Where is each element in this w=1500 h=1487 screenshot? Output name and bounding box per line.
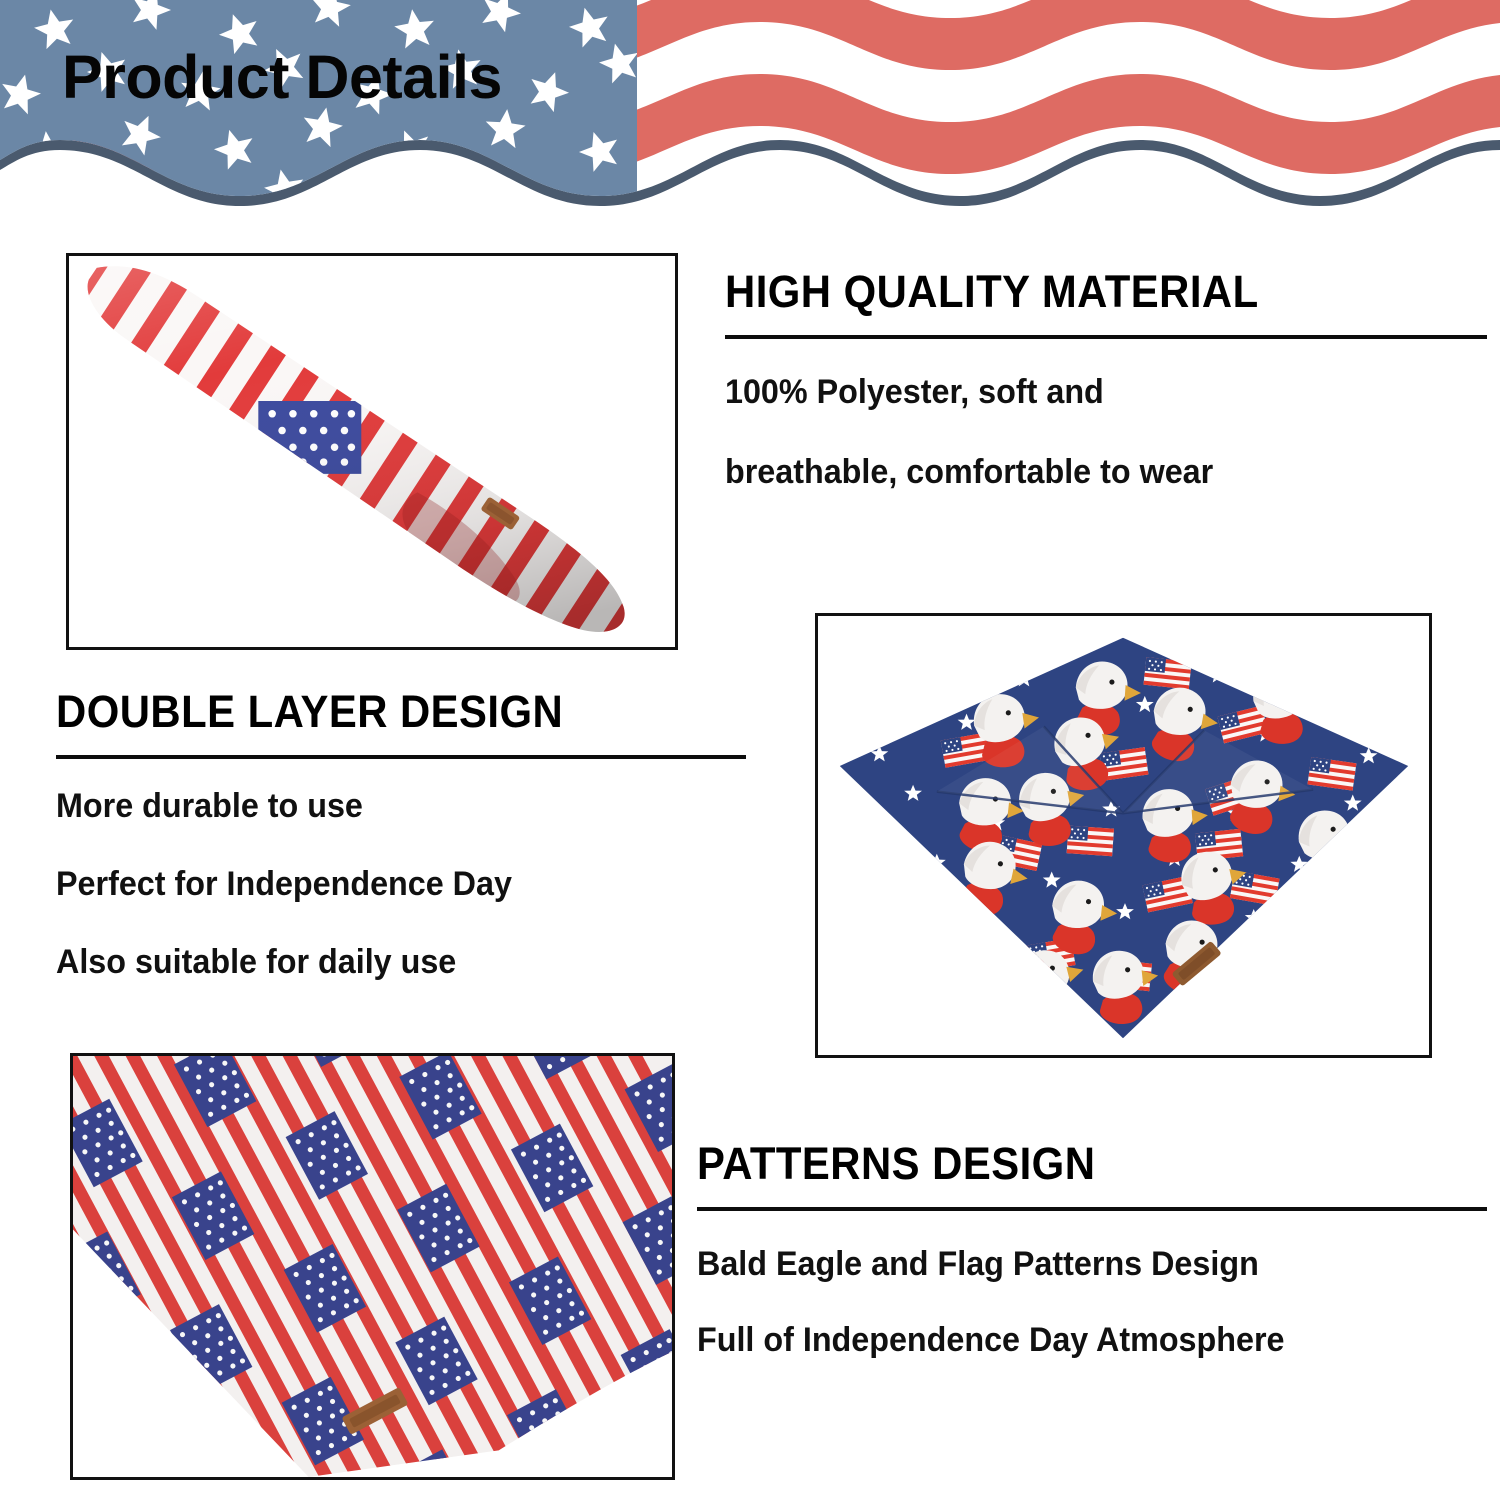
- feature-block-material: HIGH QUALITY MATERIAL 100% Polyester, so…: [725, 268, 1487, 535]
- feature-line: Bald Eagle and Flag Patterns Design: [697, 1247, 1448, 1281]
- feature-line: More durable to use: [56, 789, 712, 823]
- heading-divider: [56, 755, 746, 759]
- feature-line: Full of Independence Day Atmosphere: [697, 1323, 1448, 1357]
- feature-block-double-layer: DOUBLE LAYER DESIGN More durable to use …: [56, 688, 746, 1023]
- rolled-flag-bandana-photo: [66, 253, 678, 650]
- heading-divider: [725, 335, 1487, 339]
- feature-heading-patterns: PATTERNS DESIGN: [697, 1140, 1432, 1187]
- page-title: Product Details: [62, 47, 502, 108]
- flat-flag-bandana-image: [73, 1056, 672, 1477]
- feature-lines-double-layer: More durable to use Perfect for Independ…: [56, 789, 746, 979]
- feature-block-patterns: PATTERNS DESIGN Bald Eagle and Flag Patt…: [697, 1140, 1487, 1399]
- feature-lines-material: 100% Polyester, soft and breathable, com…: [725, 375, 1487, 489]
- heading-divider: [697, 1207, 1487, 1211]
- header-banner: Product Details: [0, 0, 1500, 215]
- eagle-bandana-image: [818, 616, 1429, 1055]
- feature-heading-material: HIGH QUALITY MATERIAL: [725, 268, 1434, 315]
- feature-line: breathable, comfortable to wear: [725, 455, 1449, 489]
- feature-line: 100% Polyester, soft and: [725, 375, 1449, 409]
- rolled-flag-bandana-image: [69, 256, 675, 647]
- feature-lines-patterns: Bald Eagle and Flag Patterns Design Full…: [697, 1247, 1487, 1357]
- eagle-bandana-photo: [815, 613, 1432, 1058]
- feature-line: Perfect for Independence Day: [56, 867, 712, 901]
- feature-line: Also suitable for daily use: [56, 945, 712, 979]
- feature-heading-double-layer: DOUBLE LAYER DESIGN: [56, 688, 698, 735]
- flat-flag-bandana-photo: [70, 1053, 675, 1480]
